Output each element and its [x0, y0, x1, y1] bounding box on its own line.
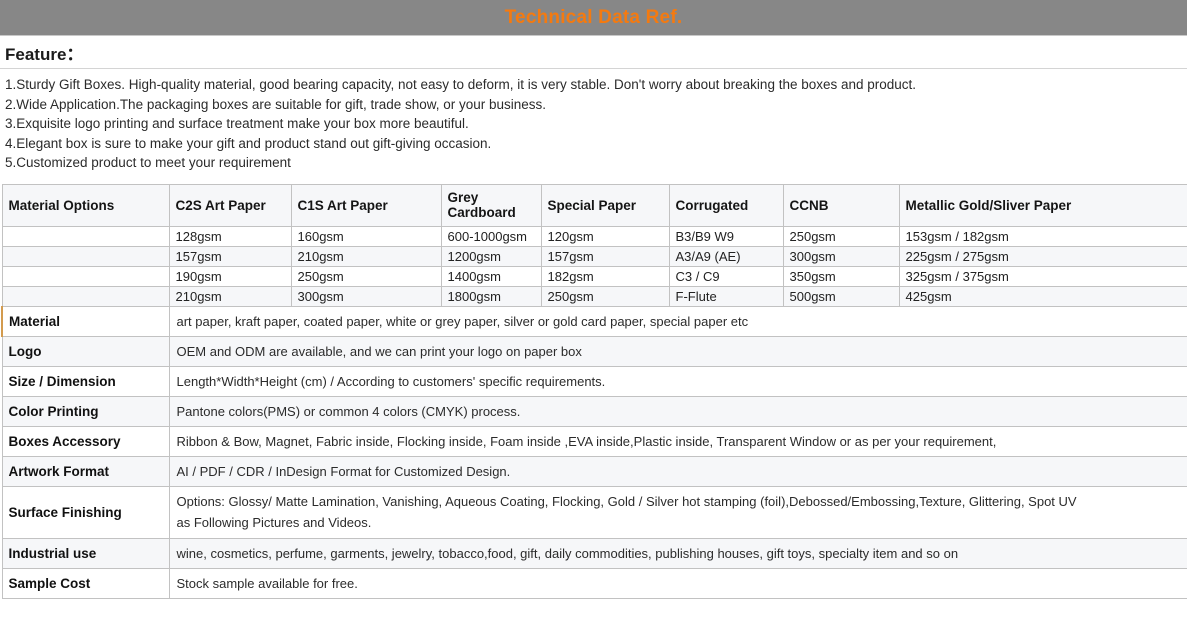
spec-row-surface-finishing: Surface Finishing Options: Glossy/ Matte… [2, 486, 1187, 538]
spec-row-logo: Logo OEM and ODM are available, and we c… [2, 336, 1187, 366]
cell-c1s: 210gsm [291, 246, 441, 266]
spec-value-boxes-accessory: Ribbon & Bow, Magnet, Fabric inside, Flo… [169, 426, 1187, 456]
spec-value-surface-finishing: Options: Glossy/ Matte Lamination, Vanis… [169, 486, 1187, 538]
spec-label-surface-finishing: Surface Finishing [2, 486, 169, 538]
feature-line: 1.Sturdy Gift Boxes. High-quality materi… [5, 75, 1182, 95]
cell-c1s: 250gsm [291, 266, 441, 286]
spec-row-size-dimension: Size / Dimension Length*Width*Height (cm… [2, 366, 1187, 396]
cell-ccnb: 250gsm [783, 226, 899, 246]
spec-value-color-printing: Pantone colors(PMS) or common 4 colors (… [169, 396, 1187, 426]
spec-value-sample-cost: Stock sample available for free. [169, 568, 1187, 598]
cell-metallic: 225gsm / 275gsm [899, 246, 1187, 266]
cell-ccnb: 500gsm [783, 286, 899, 306]
spec-row-boxes-accessory: Boxes Accessory Ribbon & Bow, Magnet, Fa… [2, 426, 1187, 456]
spec-label-boxes-accessory: Boxes Accessory [2, 426, 169, 456]
spec-label-logo: Logo [2, 336, 169, 366]
title-banner: Technical Data Ref. [0, 0, 1187, 36]
cell-material-options [2, 226, 169, 246]
technical-spec-table: Material Options C2S Art Paper C1S Art P… [1, 184, 1187, 599]
cell-metallic: 153gsm / 182gsm [899, 226, 1187, 246]
table-row: 190gsm 250gsm 1400gsm 182gsm C3 / C9 350… [2, 266, 1187, 286]
cell-corrugated: F-Flute [669, 286, 783, 306]
cell-material-options [2, 286, 169, 306]
column-header-metallic-gold-sliver-paper: Metallic Gold/Sliver Paper [899, 184, 1187, 226]
column-header-material-options: Material Options [2, 184, 169, 226]
feature-heading: Feature： [0, 36, 1187, 69]
technical-data-page: Technical Data Ref. Feature： 1.Sturdy Gi… [0, 0, 1187, 620]
feature-line: 4.Elegant box is sure to make your gift … [5, 134, 1182, 154]
spec-label-sample-cost: Sample Cost [2, 568, 169, 598]
feature-label: Feature： [5, 40, 83, 65]
cell-corrugated: A3/A9 (AE) [669, 246, 783, 266]
spec-label-material: Material [2, 306, 169, 336]
column-header-grey-cardboard: Grey Cardboard [441, 184, 541, 226]
spec-row-industrial-use: Industrial use wine, cosmetics, perfume,… [2, 538, 1187, 568]
table-row: 128gsm 160gsm 600-1000gsm 120gsm B3/B9 W… [2, 226, 1187, 246]
spec-value-line: as Following Pictures and Videos. [177, 512, 1181, 533]
cell-special-paper: 182gsm [541, 266, 669, 286]
spec-value-logo: OEM and ODM are available, and we can pr… [169, 336, 1187, 366]
cell-material-options [2, 266, 169, 286]
page-title: Technical Data Ref. [505, 8, 683, 27]
cell-c2s: 210gsm [169, 286, 291, 306]
spec-label-artwork-format: Artwork Format [2, 456, 169, 486]
feature-line: 2.Wide Application.The packaging boxes a… [5, 95, 1182, 115]
column-header-c2s-art-paper: C2S Art Paper [169, 184, 291, 226]
spec-label-color-printing: Color Printing [2, 396, 169, 426]
cell-special-paper: 250gsm [541, 286, 669, 306]
column-header-special-paper: Special Paper [541, 184, 669, 226]
table-header-row: Material Options C2S Art Paper C1S Art P… [2, 184, 1187, 226]
cell-ccnb: 300gsm [783, 246, 899, 266]
cell-c1s: 300gsm [291, 286, 441, 306]
column-header-corrugated: Corrugated [669, 184, 783, 226]
feature-line: 5.Customized product to meet your requir… [5, 153, 1182, 173]
cell-ccnb: 350gsm [783, 266, 899, 286]
cell-metallic: 425gsm [899, 286, 1187, 306]
column-header-c1s-art-paper: C1S Art Paper [291, 184, 441, 226]
cell-grey-cardboard: 1200gsm [441, 246, 541, 266]
spec-row-color-printing: Color Printing Pantone colors(PMS) or co… [2, 396, 1187, 426]
feature-line: 3.Exquisite logo printing and surface tr… [5, 114, 1182, 134]
table-row: 157gsm 210gsm 1200gsm 157gsm A3/A9 (AE) … [2, 246, 1187, 266]
cell-material-options [2, 246, 169, 266]
cell-corrugated: B3/B9 W9 [669, 226, 783, 246]
cell-metallic: 325gsm / 375gsm [899, 266, 1187, 286]
spec-row-sample-cost: Sample Cost Stock sample available for f… [2, 568, 1187, 598]
feature-list: 1.Sturdy Gift Boxes. High-quality materi… [0, 69, 1187, 179]
spec-row-artwork-format: Artwork Format AI / PDF / CDR / InDesign… [2, 456, 1187, 486]
cell-c2s: 128gsm [169, 226, 291, 246]
cell-special-paper: 157gsm [541, 246, 669, 266]
cell-grey-cardboard: 600-1000gsm [441, 226, 541, 246]
spec-value-line: Options: Glossy/ Matte Lamination, Vanis… [177, 491, 1181, 512]
spec-label-industrial-use: Industrial use [2, 538, 169, 568]
cell-corrugated: C3 / C9 [669, 266, 783, 286]
cell-grey-cardboard: 1800gsm [441, 286, 541, 306]
cell-c1s: 160gsm [291, 226, 441, 246]
table-row: 210gsm 300gsm 1800gsm 250gsm F-Flute 500… [2, 286, 1187, 306]
spec-value-artwork-format: AI / PDF / CDR / InDesign Format for Cus… [169, 456, 1187, 486]
column-header-ccnb: CCNB [783, 184, 899, 226]
cell-c2s: 190gsm [169, 266, 291, 286]
spec-value-material: art paper, kraft paper, coated paper, wh… [169, 306, 1187, 336]
spec-value-size-dimension: Length*Width*Height (cm) / According to … [169, 366, 1187, 396]
spec-value-industrial-use: wine, cosmetics, perfume, garments, jewe… [169, 538, 1187, 568]
spec-row-material: Material art paper, kraft paper, coated … [2, 306, 1187, 336]
cell-c2s: 157gsm [169, 246, 291, 266]
cell-grey-cardboard: 1400gsm [441, 266, 541, 286]
spec-label-size-dimension: Size / Dimension [2, 366, 169, 396]
cell-special-paper: 120gsm [541, 226, 669, 246]
